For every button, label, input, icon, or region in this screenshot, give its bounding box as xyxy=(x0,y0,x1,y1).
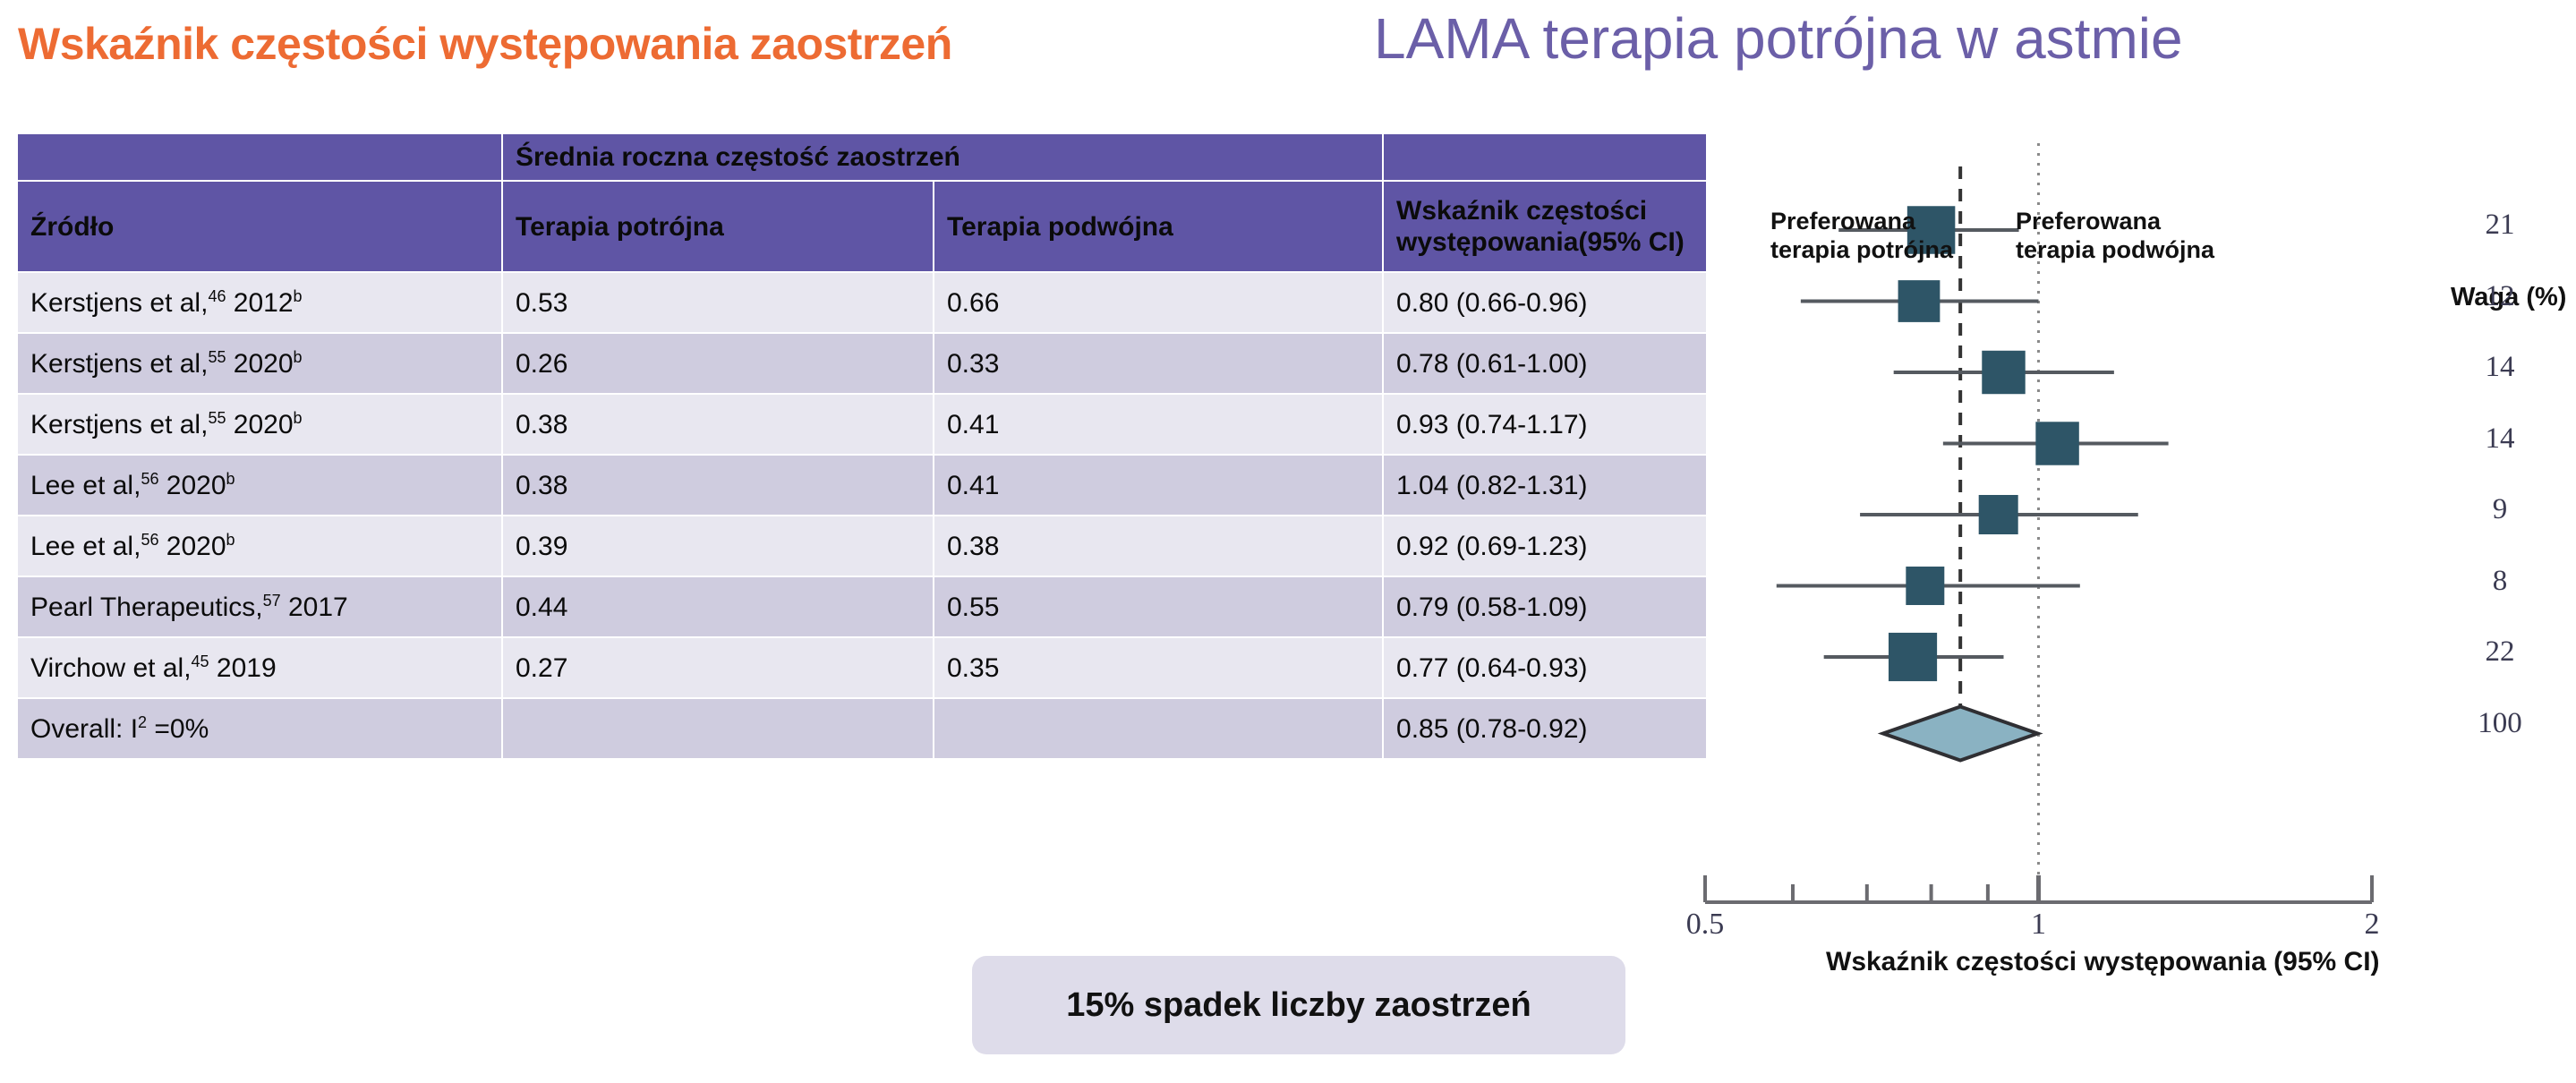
forest-plot-svg xyxy=(1701,132,2576,1036)
cell-dual-therapy: 0.41 xyxy=(934,456,1382,515)
cell-triple-therapy xyxy=(503,699,933,758)
page-title-left: Wskaźnik częstości występowania zaostrze… xyxy=(18,18,952,70)
weight-value: 22 xyxy=(2451,635,2549,669)
cell-source: Kerstjens et al,55 2020b xyxy=(18,334,501,393)
summary-callout: 15% spadek liczby zaostrzeń xyxy=(972,956,1625,1054)
preference-label-right: Preferowana terapia podwójna xyxy=(2016,208,2214,265)
table-row: Pearl Therapeutics,57 20170.440.550.79 (… xyxy=(18,577,1706,636)
weight-value: 14 xyxy=(2451,351,2549,384)
cell-rate-ratio: 0.78 (0.61-1.00) xyxy=(1384,334,1706,393)
study-effect-marker xyxy=(1982,351,2025,394)
superscript-footnote: b xyxy=(226,470,235,488)
table-row: Kerstjens et al,46 2012b0.530.660.80 (0.… xyxy=(18,273,1706,332)
weight-value: 9 xyxy=(2451,493,2549,526)
cell-triple-therapy: 0.27 xyxy=(503,638,933,697)
cell-rate-ratio: 1.04 (0.82-1.31) xyxy=(1384,456,1706,515)
slide-canvas: Wskaźnik częstości występowania zaostrze… xyxy=(0,0,2576,1083)
cell-source: Lee et al,56 2020b xyxy=(18,456,501,515)
cell-dual-therapy xyxy=(934,699,1382,758)
cell-source: Kerstjens et al,46 2012b xyxy=(18,273,501,332)
pooled-effect-diamond xyxy=(1883,707,2038,761)
table-row: Lee et al,56 2020b0.390.380.92 (0.69-1.2… xyxy=(18,516,1706,576)
superscript-footnote: b xyxy=(294,287,303,305)
cell-rate-ratio: 0.80 (0.66-0.96) xyxy=(1384,273,1706,332)
group-header-blank-cell xyxy=(18,134,501,180)
study-effect-marker xyxy=(1906,567,1944,605)
weight-value: 12 xyxy=(2451,280,2549,313)
superscript-reference: 56 xyxy=(141,531,158,549)
cell-source: Overall: I2 =0% xyxy=(18,699,501,758)
cell-dual-therapy: 0.35 xyxy=(934,638,1382,697)
axis-title: Wskaźnik częstości występowania (95% CI) xyxy=(1826,947,2380,977)
table-row: Kerstjens et al,55 2020b0.260.330.78 (0.… xyxy=(18,334,1706,393)
col-header-rate-ratio: Wskaźnik częstości występowania(95% CI) xyxy=(1384,182,1706,271)
axis-tick-label-0: 0.5 xyxy=(1678,908,1732,942)
cell-dual-therapy: 0.33 xyxy=(934,334,1382,393)
axis-tick-label-1: 1 xyxy=(2012,908,2066,942)
table-row: Overall: I2 =0%0.85 (0.78-0.92) xyxy=(18,699,1706,758)
col-header-rate-ratio-line1: Wskaźnik częstości xyxy=(1396,196,1647,226)
preference-label-left-line2: terapia potrójna xyxy=(1770,236,1953,263)
weight-value: 100 xyxy=(2451,707,2549,740)
superscript-footnote: b xyxy=(294,409,303,427)
superscript-footnote: b xyxy=(226,531,235,549)
cell-rate-ratio: 0.85 (0.78-0.92) xyxy=(1384,699,1706,758)
superscript-footnote: b xyxy=(294,348,303,366)
preference-label-left-line1: Preferowana xyxy=(1770,208,1915,235)
cell-rate-ratio: 0.93 (0.74-1.17) xyxy=(1384,395,1706,454)
cell-triple-therapy: 0.38 xyxy=(503,456,933,515)
col-header-rate-ratio-line2: występowania(95% CI) xyxy=(1396,227,1685,257)
superscript-reference: 2 xyxy=(138,713,147,731)
superscript-reference: 45 xyxy=(192,652,209,670)
study-effect-marker xyxy=(1889,633,1937,681)
cell-triple-therapy: 0.26 xyxy=(503,334,933,393)
page-title-right: LAMA terapia potrójna w astmie xyxy=(1374,5,2183,72)
superscript-reference: 46 xyxy=(208,287,226,305)
study-effect-marker xyxy=(2035,422,2078,465)
table-header-row: Źródło Terapia potrójna Terapia podwójna… xyxy=(18,182,1706,271)
superscript-reference: 55 xyxy=(208,348,226,366)
table-row: Lee et al,56 2020b0.380.411.04 (0.82-1.3… xyxy=(18,456,1706,515)
cell-rate-ratio: 0.92 (0.69-1.23) xyxy=(1384,516,1706,576)
cell-dual-therapy: 0.41 xyxy=(934,395,1382,454)
cell-triple-therapy: 0.39 xyxy=(503,516,933,576)
superscript-reference: 55 xyxy=(208,409,226,427)
superscript-reference: 56 xyxy=(141,470,158,488)
weight-value: 21 xyxy=(2451,209,2549,242)
table-group-header-row: Średnia roczna częstość zaostrzeń xyxy=(18,134,1706,180)
cell-source: Virchow et al,45 2019 xyxy=(18,638,501,697)
group-header-mean-rate: Średnia roczna częstość zaostrzeń xyxy=(503,134,1382,180)
col-header-source: Źródło xyxy=(18,182,501,271)
preference-label-right-line1: Preferowana xyxy=(2016,208,2161,235)
cell-rate-ratio: 0.79 (0.58-1.09) xyxy=(1384,577,1706,636)
cell-source: Kerstjens et al,55 2020b xyxy=(18,395,501,454)
cell-source: Pearl Therapeutics,57 2017 xyxy=(18,577,501,636)
forest-plot: Preferowana terapia potrójna Preferowana… xyxy=(1701,132,2576,1036)
cell-dual-therapy: 0.38 xyxy=(934,516,1382,576)
study-effect-marker xyxy=(1898,280,1941,322)
cell-triple-therapy: 0.53 xyxy=(503,273,933,332)
summary-callout-text: 15% spadek liczby zaostrzeń xyxy=(1066,986,1531,1025)
col-header-triple: Terapia potrójna xyxy=(503,182,933,271)
table-row: Kerstjens et al,55 2020b0.380.410.93 (0.… xyxy=(18,395,1706,454)
cell-dual-therapy: 0.66 xyxy=(934,273,1382,332)
weight-value: 14 xyxy=(2451,422,2549,456)
axis-tick-label-2: 2 xyxy=(2345,908,2399,942)
col-header-dual: Terapia podwójna xyxy=(934,182,1382,271)
cell-triple-therapy: 0.38 xyxy=(503,395,933,454)
weight-value: 8 xyxy=(2451,565,2549,598)
results-table: Średnia roczna częstość zaostrzeń Źródło… xyxy=(16,132,1708,760)
study-effect-marker xyxy=(1979,495,2018,534)
cell-source: Lee et al,56 2020b xyxy=(18,516,501,576)
preference-label-right-line2: terapia podwójna xyxy=(2016,236,2214,263)
cell-rate-ratio: 0.77 (0.64-0.93) xyxy=(1384,638,1706,697)
preference-label-left: Preferowana terapia potrójna xyxy=(1770,208,1953,265)
table-row: Virchow et al,45 20190.270.350.77 (0.64-… xyxy=(18,638,1706,697)
cell-triple-therapy: 0.44 xyxy=(503,577,933,636)
superscript-reference: 57 xyxy=(263,592,281,610)
cell-dual-therapy: 0.55 xyxy=(934,577,1382,636)
group-header-blank-cell-right xyxy=(1384,134,1706,180)
